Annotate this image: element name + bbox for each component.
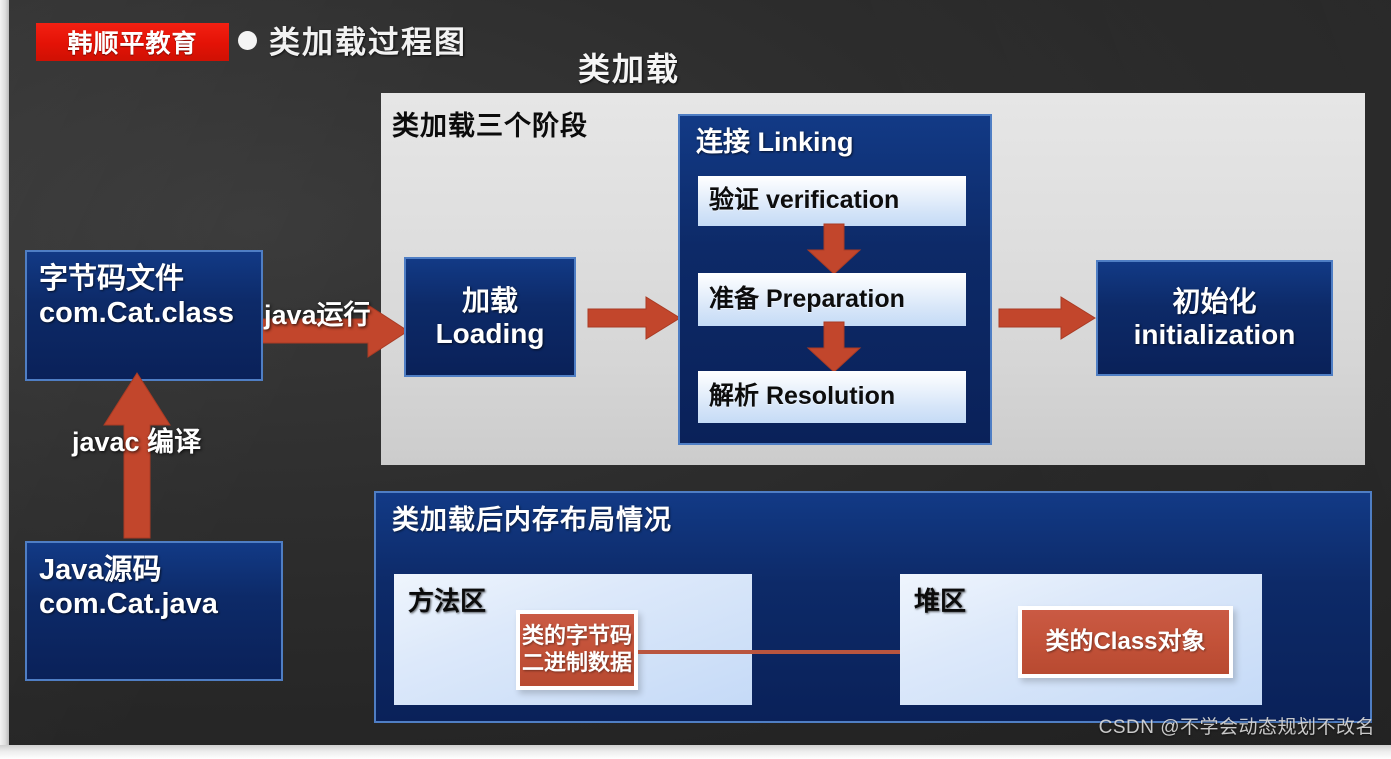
memory-layout-panel: 类加载后内存布局情况 方法区 类的字节码 二进制数据 堆区 类的Class对象 (374, 491, 1372, 723)
brand-badge: 韩顺平教育 (36, 23, 229, 61)
linking-step-verification-label: 验证 verification (709, 186, 899, 216)
linking-step-resolution-label: 解析 Resolution (709, 382, 895, 412)
heap-area-class-object-box: 类的Class对象 (1018, 606, 1233, 678)
page-title: 类加载过程图 (269, 17, 467, 62)
watermark: CSDN @不学会动态规划不改名 (1099, 712, 1375, 739)
phases-panel-label: 类加载三个阶段 (392, 104, 588, 143)
bullet-dot-icon (238, 31, 257, 50)
bottom-edge-strip (0, 745, 1391, 759)
linking-box-title: 连接 Linking (696, 127, 854, 159)
java-source-box: Java源码 com.Cat.java (25, 541, 283, 681)
section-title: 类加载 (578, 44, 680, 90)
left-edge-strip (0, 0, 9, 759)
loading-box-line2: Loading (436, 317, 545, 350)
linking-step-preparation-label: 准备 Preparation (709, 285, 905, 315)
method-area-bytecode-box: 类的字节码 二进制数据 (516, 610, 638, 690)
linking-step-verification: 验证 verification (698, 176, 966, 226)
loading-to-linking-arrow-icon (588, 297, 680, 339)
loading-box-line1: 加载 (462, 284, 518, 317)
java-run-label: java运行 (264, 293, 371, 332)
java-source-line1: Java源码 (39, 553, 281, 587)
initialization-box-line1: 初始化 (1172, 285, 1256, 318)
memory-layout-panel-title: 类加载后内存布局情况 (392, 505, 672, 537)
heap-area-label: 堆区 (914, 586, 966, 617)
bytecode-file-box: 字节码文件 com.Cat.class (25, 250, 263, 381)
method-area-bytecode-line2: 二进制数据 (522, 650, 632, 677)
linking-to-initialization-arrow-icon (999, 297, 1095, 339)
bytecode-file-line2: com.Cat.class (39, 296, 261, 330)
method-area-label: 方法区 (408, 586, 486, 617)
bytecode-file-line1: 字节码文件 (39, 262, 261, 296)
verification-to-preparation-arrow-icon (808, 224, 860, 274)
method-area-bytecode-line1: 类的字节码 (522, 623, 632, 650)
slide-canvas: 韩顺平教育 类加载过程图 类加载 类加载三个阶段 java运行 加载 Loadi… (0, 0, 1391, 759)
initialization-box-line2: initialization (1134, 318, 1296, 351)
javac-compile-label: javac 编译 (72, 420, 201, 459)
linking-step-preparation: 准备 Preparation (698, 273, 966, 326)
java-source-line2: com.Cat.java (39, 587, 281, 621)
linking-step-resolution: 解析 Resolution (698, 371, 966, 423)
loading-stage-box: 加载 Loading (404, 257, 576, 377)
preparation-to-resolution-arrow-icon (808, 322, 860, 372)
linking-stage-box: 连接 Linking 验证 verification 准备 Preparatio… (678, 114, 992, 445)
heap-area-class-object-line1: 类的Class对象 (1045, 627, 1205, 656)
initialization-stage-box: 初始化 initialization (1096, 260, 1333, 376)
